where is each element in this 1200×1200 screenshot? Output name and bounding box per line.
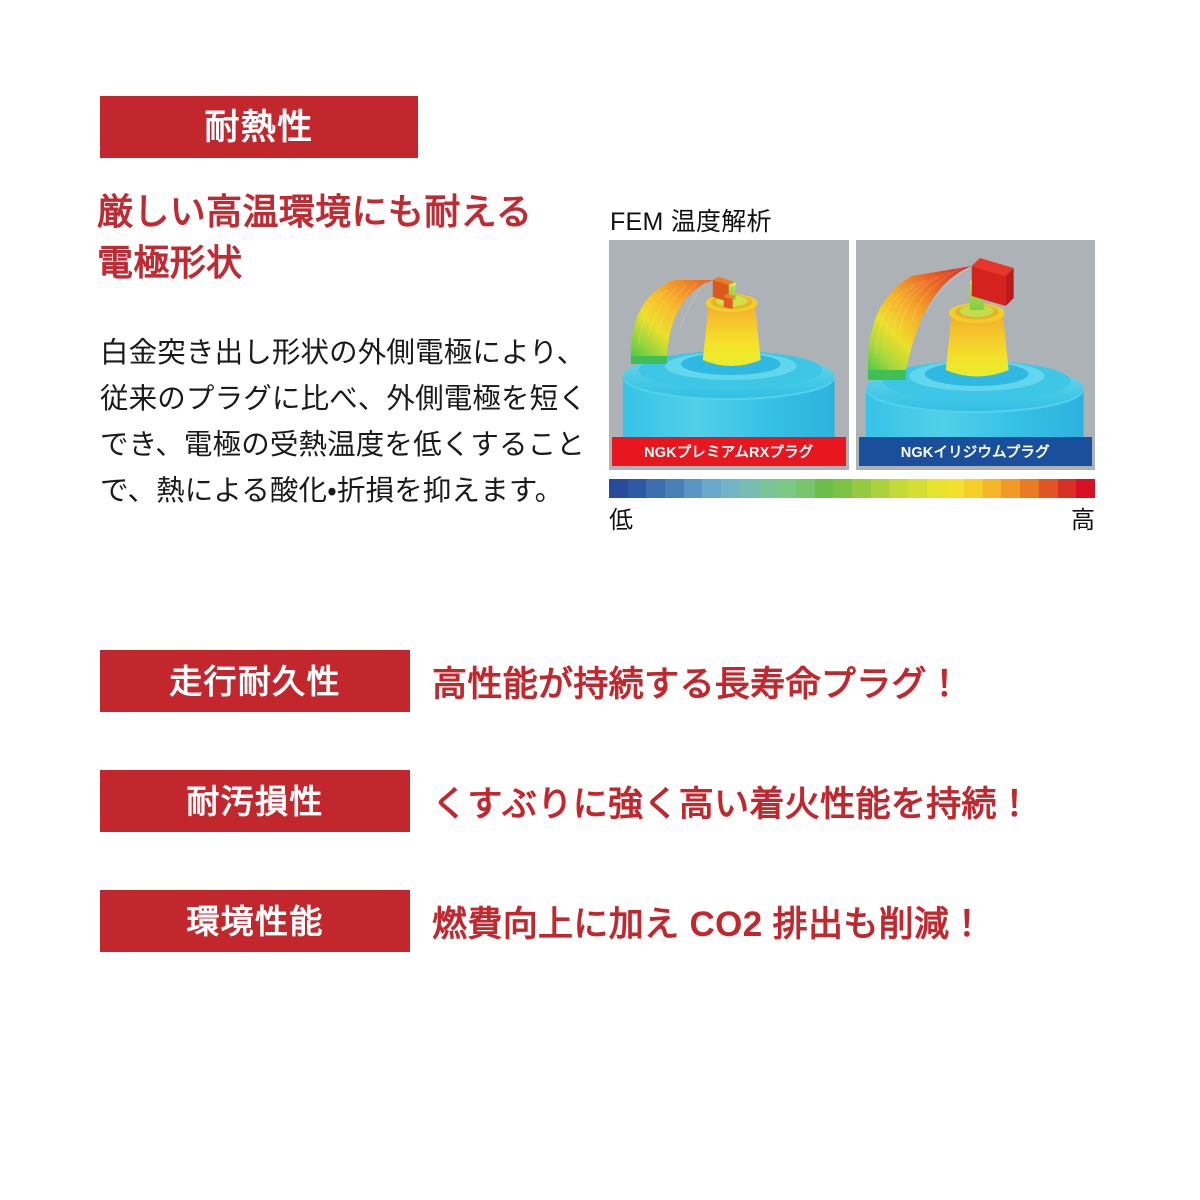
color-scale-segment-13 bbox=[852, 479, 871, 498]
body-line-4: で、熱による酸化・折損を抑えます。 bbox=[100, 468, 600, 514]
color-scale-segment-11 bbox=[815, 479, 834, 498]
scale-low-label: 低 bbox=[609, 500, 633, 535]
color-scale-segment-17 bbox=[927, 479, 946, 498]
feature-tag-environmental-performance: 環境性能 bbox=[100, 890, 410, 952]
feature-desc-fouling-resistance: くすぶりに強く高い着火性能を持続！ bbox=[432, 770, 1032, 832]
color-scale-segment-6 bbox=[721, 479, 740, 498]
color-scale-segment-2 bbox=[646, 479, 665, 498]
feature-row-fouling-resistance: 耐汚損性 くすぶりに強く高い着火性能を持続！ bbox=[100, 770, 1050, 832]
temperature-color-scale: 低 高 bbox=[609, 479, 1095, 534]
headline-line-2: 電極形状 bbox=[97, 242, 242, 283]
fem-panel-iridium: NGKイリジウムプラグ bbox=[856, 240, 1096, 470]
color-scale-segment-23 bbox=[1039, 479, 1058, 498]
scale-high-label: 高 bbox=[1071, 500, 1095, 535]
color-scale-bar bbox=[609, 479, 1095, 498]
feature-tag-driving-durability: 走行耐久性 bbox=[100, 650, 410, 712]
body-paragraph: 白金突き出し形状の外側電極により、 従来のプラグに比べ、外側電極を短く でき、電… bbox=[100, 330, 600, 515]
fem-panel-group: NGKプレミアムRXプラグ bbox=[609, 240, 1095, 470]
color-scale-labels: 低 高 bbox=[609, 500, 1095, 534]
color-scale-segment-19 bbox=[964, 479, 983, 498]
fem-analysis-title: FEM 温度解析 bbox=[610, 202, 772, 238]
page-title: 厳しい高温環境にも耐える 電極形状 bbox=[97, 186, 577, 288]
color-scale-segment-0 bbox=[609, 479, 628, 498]
color-scale-segment-21 bbox=[1001, 479, 1020, 498]
fem-caption-iridium: NGKイリジウムプラグ bbox=[859, 437, 1093, 466]
spark-plug-thermal-map-rx-icon bbox=[609, 240, 849, 470]
color-scale-segment-12 bbox=[833, 479, 852, 498]
color-scale-segment-25 bbox=[1076, 479, 1095, 498]
color-scale-segment-14 bbox=[871, 479, 890, 498]
section-tag-heat-resistance: 耐熱性 bbox=[100, 96, 418, 158]
feature-desc-environmental-performance: 燃費向上に加え CO2 排出も削減！ bbox=[432, 890, 985, 952]
color-scale-segment-1 bbox=[628, 479, 647, 498]
spark-plug-thermal-map-iridium-icon bbox=[856, 240, 1096, 470]
color-scale-segment-20 bbox=[983, 479, 1002, 498]
color-scale-segment-18 bbox=[945, 479, 964, 498]
color-scale-segment-10 bbox=[796, 479, 815, 498]
color-scale-segment-9 bbox=[777, 479, 796, 498]
color-scale-segment-7 bbox=[740, 479, 759, 498]
color-scale-segment-22 bbox=[1020, 479, 1039, 498]
color-scale-segment-5 bbox=[702, 479, 721, 498]
body-line-1: 白金突き出し形状の外側電極により、 bbox=[100, 330, 600, 376]
color-scale-segment-24 bbox=[1058, 479, 1077, 498]
feature-row-environmental-performance: 環境性能 燃費向上に加え CO2 排出も削減！ bbox=[100, 890, 1050, 952]
feature-row-driving-durability: 走行耐久性 高性能が持続する長寿命プラグ！ bbox=[100, 650, 1050, 712]
fem-panel-premium-rx: NGKプレミアムRXプラグ bbox=[609, 240, 849, 470]
fem-caption-premium-rx: NGKプレミアムRXプラグ bbox=[612, 437, 846, 466]
headline-line-1: 厳しい高温環境にも耐える bbox=[97, 191, 532, 232]
body-line-2: 従来のプラグに比べ、外側電極を短く bbox=[100, 376, 600, 422]
product-feature-infographic: 耐熱性 厳しい高温環境にも耐える 電極形状 白金突き出し形状の外側電極により、 … bbox=[0, 0, 1200, 1200]
body-line-3: でき、電極の受熱温度を低くすること bbox=[100, 422, 600, 468]
color-scale-segment-16 bbox=[908, 479, 927, 498]
color-scale-segment-15 bbox=[889, 479, 908, 498]
feature-tag-fouling-resistance: 耐汚損性 bbox=[100, 770, 410, 832]
color-scale-segment-8 bbox=[759, 479, 778, 498]
color-scale-segment-4 bbox=[684, 479, 703, 498]
feature-desc-driving-durability: 高性能が持続する長寿命プラグ！ bbox=[432, 650, 962, 712]
color-scale-segment-3 bbox=[665, 479, 684, 498]
